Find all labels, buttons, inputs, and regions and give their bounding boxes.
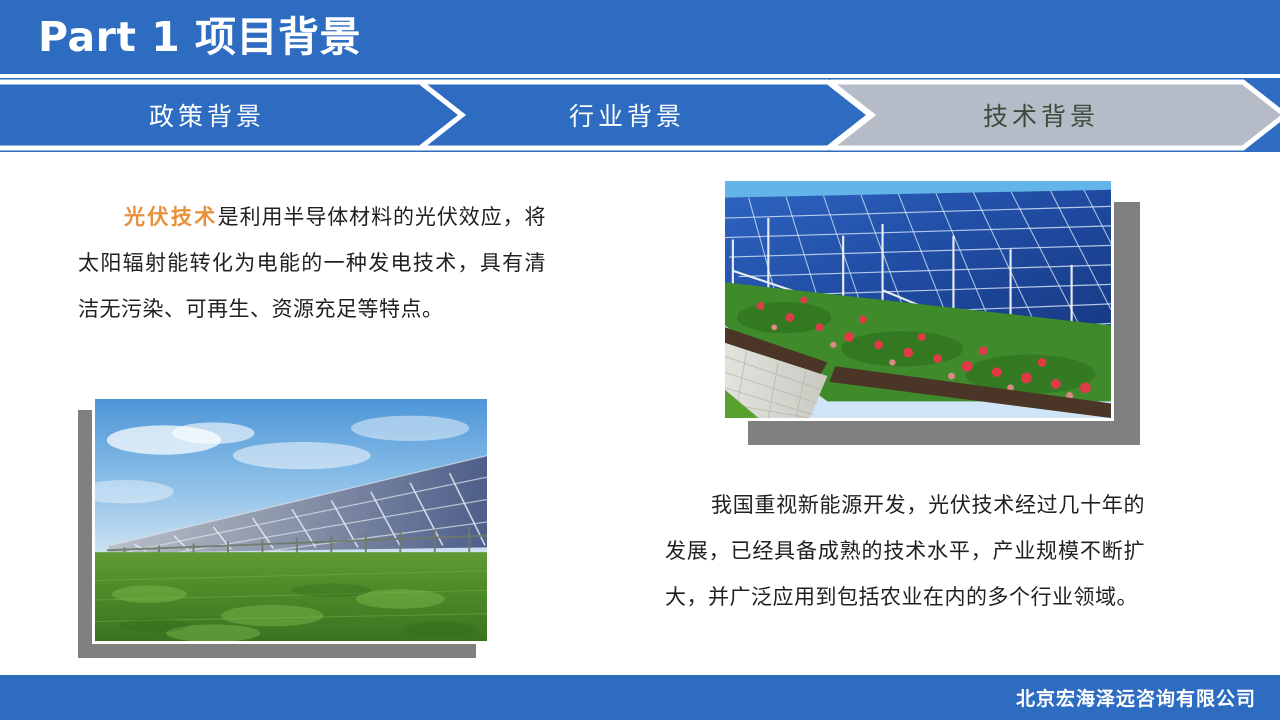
nav-item-label: 政策背景 <box>149 97 265 133</box>
slide-root: Part 1 项目背景 政策背景 行业背景 技术背景 光伏技术是利用半导体材料的… <box>0 0 1280 720</box>
highlight-term: 光伏技术 <box>124 205 218 229</box>
footer-company-name: 北京宏海泽远咨询有限公司 <box>1016 684 1256 711</box>
nav-item-label: 技术背景 <box>983 97 1099 133</box>
photo-solar-greenhouse-flowers <box>722 178 1114 421</box>
footer-band: 北京宏海泽远咨询有限公司 <box>0 675 1280 720</box>
nav-item-label: 行业背景 <box>569 97 685 133</box>
page-title: Part 1 项目背景 <box>38 8 361 66</box>
left-paragraph: 光伏技术是利用半导体材料的光伏效应，将太阳辐射能转化为电能的一种发电技术，具有清… <box>78 194 546 332</box>
right-paragraph: 我国重视新能源开发，光伏技术经过几十年的发展，已经具备成熟的技术水平，产业规模不… <box>665 482 1145 620</box>
nav-item-industry[interactable]: 行业背景 <box>420 78 870 152</box>
nav-item-policy[interactable]: 政策背景 <box>0 78 470 152</box>
photo-solar-farm-grass <box>92 396 490 644</box>
nav-item-technology[interactable]: 技术背景 <box>830 78 1280 152</box>
